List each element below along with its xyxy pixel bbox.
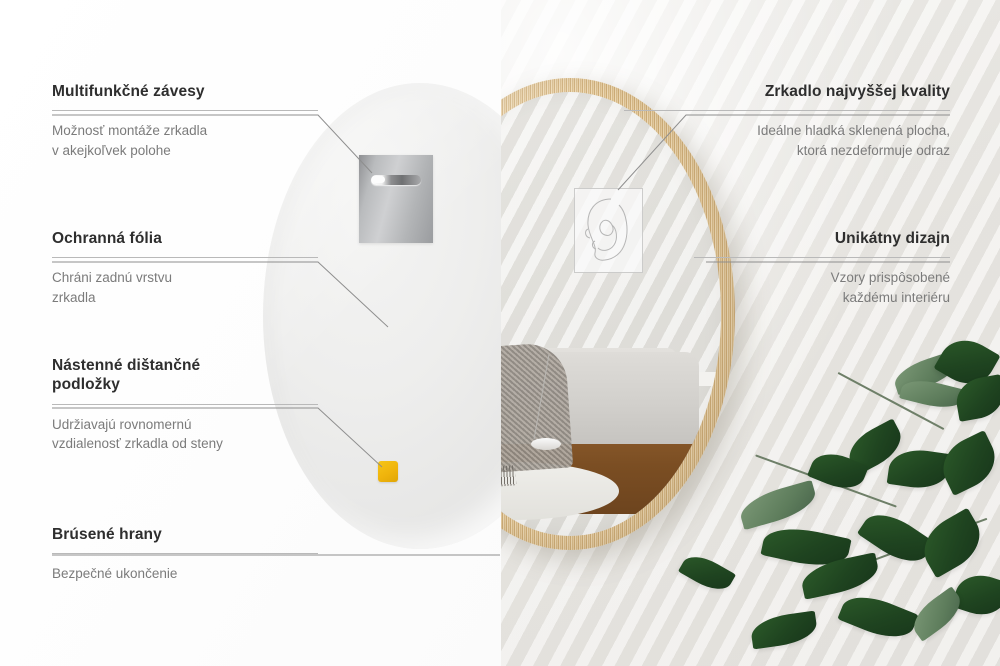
callout-zrkadlo-najvyssej-kvality: Zrkadlo najvyššej kvality Ideálne hladká… [624, 82, 950, 160]
callout-desc-line2: ktorá nezdeformuje odraz [624, 141, 950, 160]
hanger-slot-icon [371, 175, 421, 185]
callout-rule [694, 257, 950, 258]
callout-rule [52, 404, 318, 405]
callout-rule [52, 257, 318, 258]
callout-title: Unikátny dizajn [694, 229, 950, 248]
callout-desc-line1: Možnosť montáže zrkadla [52, 121, 318, 140]
callout-rule [624, 110, 950, 111]
callout-title: Zrkadlo najvyššej kvality [624, 82, 950, 101]
callout-desc-line2: každému interiéru [694, 288, 950, 307]
reflected-lamp [531, 438, 561, 450]
callout-desc-line2: zrkadla [52, 288, 318, 307]
callout-title: Brúsené hrany [52, 525, 318, 544]
callout-desc-line1: Udržiavajú rovnomernú [52, 415, 318, 434]
callout-ochranna-folia: Ochranná fólia Chráni zadnú vrstvu zrkad… [52, 229, 318, 307]
callout-brusene-hrany: Brúsené hrany Bezpečné ukončenie [52, 525, 318, 584]
callout-desc-line2: v akejkoľvek polohe [52, 141, 318, 160]
callout-desc-line1: Ideálne hladká sklenená plocha, [624, 121, 950, 140]
callout-desc-line1: Bezpečné ukončenie [52, 564, 318, 583]
callout-multifunkcne-zavesy: Multifunkčné závesy Možnosť montáže zrka… [52, 82, 318, 160]
callout-rule [52, 110, 318, 111]
wall-spacer-pad [378, 461, 398, 482]
callout-desc-line1: Vzory prispôsobené [694, 268, 950, 287]
infographic-canvas: Multifunkčné závesy Možnosť montáže zrka… [0, 0, 1000, 666]
callout-nastenne-distancne-podlozky: Nástenné dištančné podložky Udržiavajú r… [52, 356, 318, 453]
callout-title: Multifunkčné závesy [52, 82, 318, 101]
callout-title-line1: Nástenné dištančné [52, 356, 318, 375]
callout-desc-line2: vzdialenosť zrkadla od steny [52, 434, 318, 453]
callout-unikatny-dizajn: Unikátny dizajn Vzory prispôsobené každé… [694, 229, 950, 307]
callout-title-line2: podložky [52, 375, 318, 394]
callout-desc-line1: Chráni zadnú vrstvu [52, 268, 318, 287]
callout-title: Ochranná fólia [52, 229, 318, 248]
reflected-line-art-portrait [574, 188, 643, 273]
mirror-hanger-plate [359, 155, 433, 243]
callout-rule [52, 553, 318, 554]
